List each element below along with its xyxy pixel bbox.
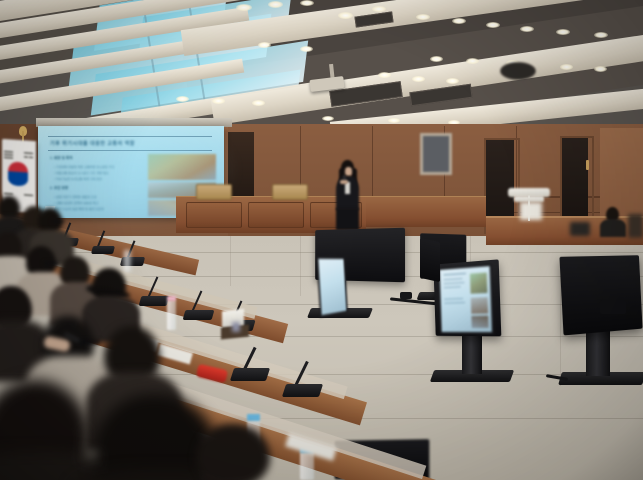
eyeglasses-icon xyxy=(52,220,64,223)
slide-bullet-2: • 대중교통 중심의 도시공간 구조 개편 필요 xyxy=(54,170,109,175)
ceiling-speaker xyxy=(500,62,536,80)
eyeglasses-icon xyxy=(78,340,100,344)
monitor-screen-center xyxy=(316,257,348,318)
slide-bullet-5: • 교통수요관리 정책의 실효성 제고 xyxy=(54,200,98,205)
slide-bullet-1: • 기후변화 대응을 위한 교통부문 탄소중립 추진 xyxy=(54,164,114,169)
attendee-head xyxy=(196,424,270,480)
slide-bullet-3: • 지속가능한 녹색교통 체계 구축 방안 xyxy=(54,176,102,181)
slide-section-1: 1. 배경 및 목적 xyxy=(50,156,73,161)
water-bottle xyxy=(300,452,314,480)
chair-wicker-left xyxy=(196,184,232,200)
eyeglasses-icon xyxy=(44,262,58,265)
slide-image-aerial xyxy=(148,154,216,180)
name-card xyxy=(232,322,240,332)
conference-hall-photo: 기후 위기시대를 대응한 교통의 역할 1. 배경 및 목적 • 기후변화 대응… xyxy=(0,0,643,480)
side-bench-right xyxy=(366,196,486,227)
slide-bullet-4: • 보행·자전거 친화형 생활권 조성 xyxy=(54,194,97,199)
slide-section-2: 2. 추진 방향 xyxy=(50,186,68,191)
slide-bullet-6: • 전기·수소차 보급 확대 및 충전 인프라 xyxy=(54,206,104,211)
slide-title: 기후 위기시대를 대응한 교통의 역할 xyxy=(50,140,135,147)
wall-picture-frame xyxy=(420,133,452,175)
skylight-ceiling xyxy=(0,0,643,132)
monitor-screen-right xyxy=(438,264,494,334)
water-bottle xyxy=(124,250,131,272)
water-bottle xyxy=(167,300,176,330)
door-handle-icon xyxy=(586,160,589,170)
chair-wicker-right xyxy=(272,184,308,200)
